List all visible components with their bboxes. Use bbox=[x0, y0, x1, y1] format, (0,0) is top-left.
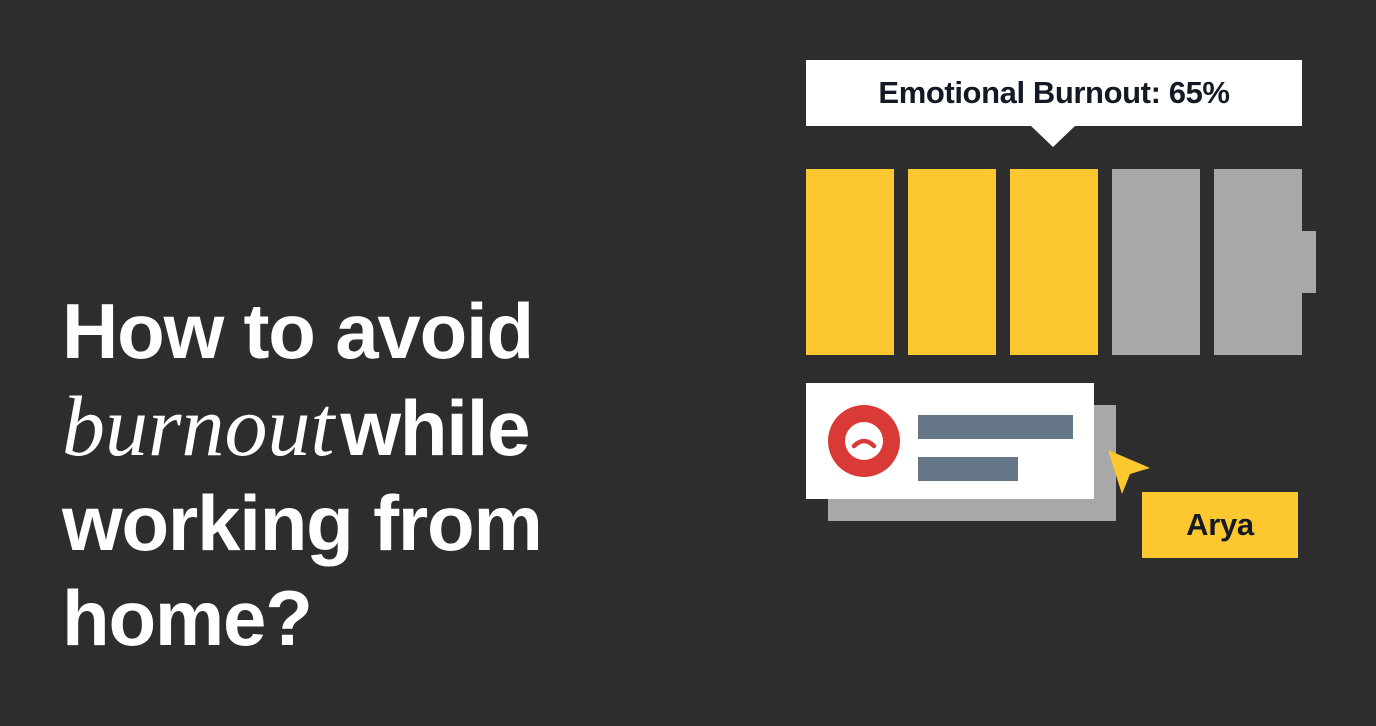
gauge-segment-1 bbox=[806, 169, 894, 355]
headline-emphasis-burnout: burnout bbox=[62, 378, 340, 474]
gauge-segment-4 bbox=[1112, 169, 1200, 355]
headline-text-how-to-avoid: How to avoid bbox=[62, 287, 533, 375]
headline-line-2: burnoutwhile bbox=[62, 379, 702, 476]
cursor-arrow-icon bbox=[1106, 448, 1152, 496]
headline-line-4: home? bbox=[62, 571, 702, 666]
slide-canvas: How to avoid burnoutwhile working from h… bbox=[0, 0, 1376, 726]
battery-terminal-icon bbox=[1302, 231, 1316, 293]
user-name-tag: Arya bbox=[1142, 492, 1298, 558]
burnout-tooltip: Emotional Burnout: 65% bbox=[806, 60, 1302, 126]
page-title: How to avoid burnoutwhile working from h… bbox=[62, 284, 702, 666]
burnout-gauge bbox=[806, 169, 1316, 355]
placeholder-line-secondary bbox=[918, 457, 1018, 481]
gauge-segment-5 bbox=[1214, 169, 1302, 355]
tooltip-pointer-icon bbox=[1030, 125, 1076, 147]
burnout-tooltip-label: Emotional Burnout: 65% bbox=[878, 75, 1229, 111]
headline-text-while: while bbox=[340, 384, 529, 472]
gauge-segment-3 bbox=[1010, 169, 1098, 355]
notification-card bbox=[806, 383, 1094, 499]
user-name-tag-label: Arya bbox=[1186, 507, 1254, 543]
sad-face-icon bbox=[828, 405, 900, 477]
notification-placeholder-lines bbox=[918, 415, 1073, 481]
headline-line-3: working from bbox=[62, 476, 702, 571]
gauge-segment-2 bbox=[908, 169, 996, 355]
placeholder-line-primary bbox=[918, 415, 1073, 439]
headline-line-1: How to avoid bbox=[62, 284, 702, 379]
